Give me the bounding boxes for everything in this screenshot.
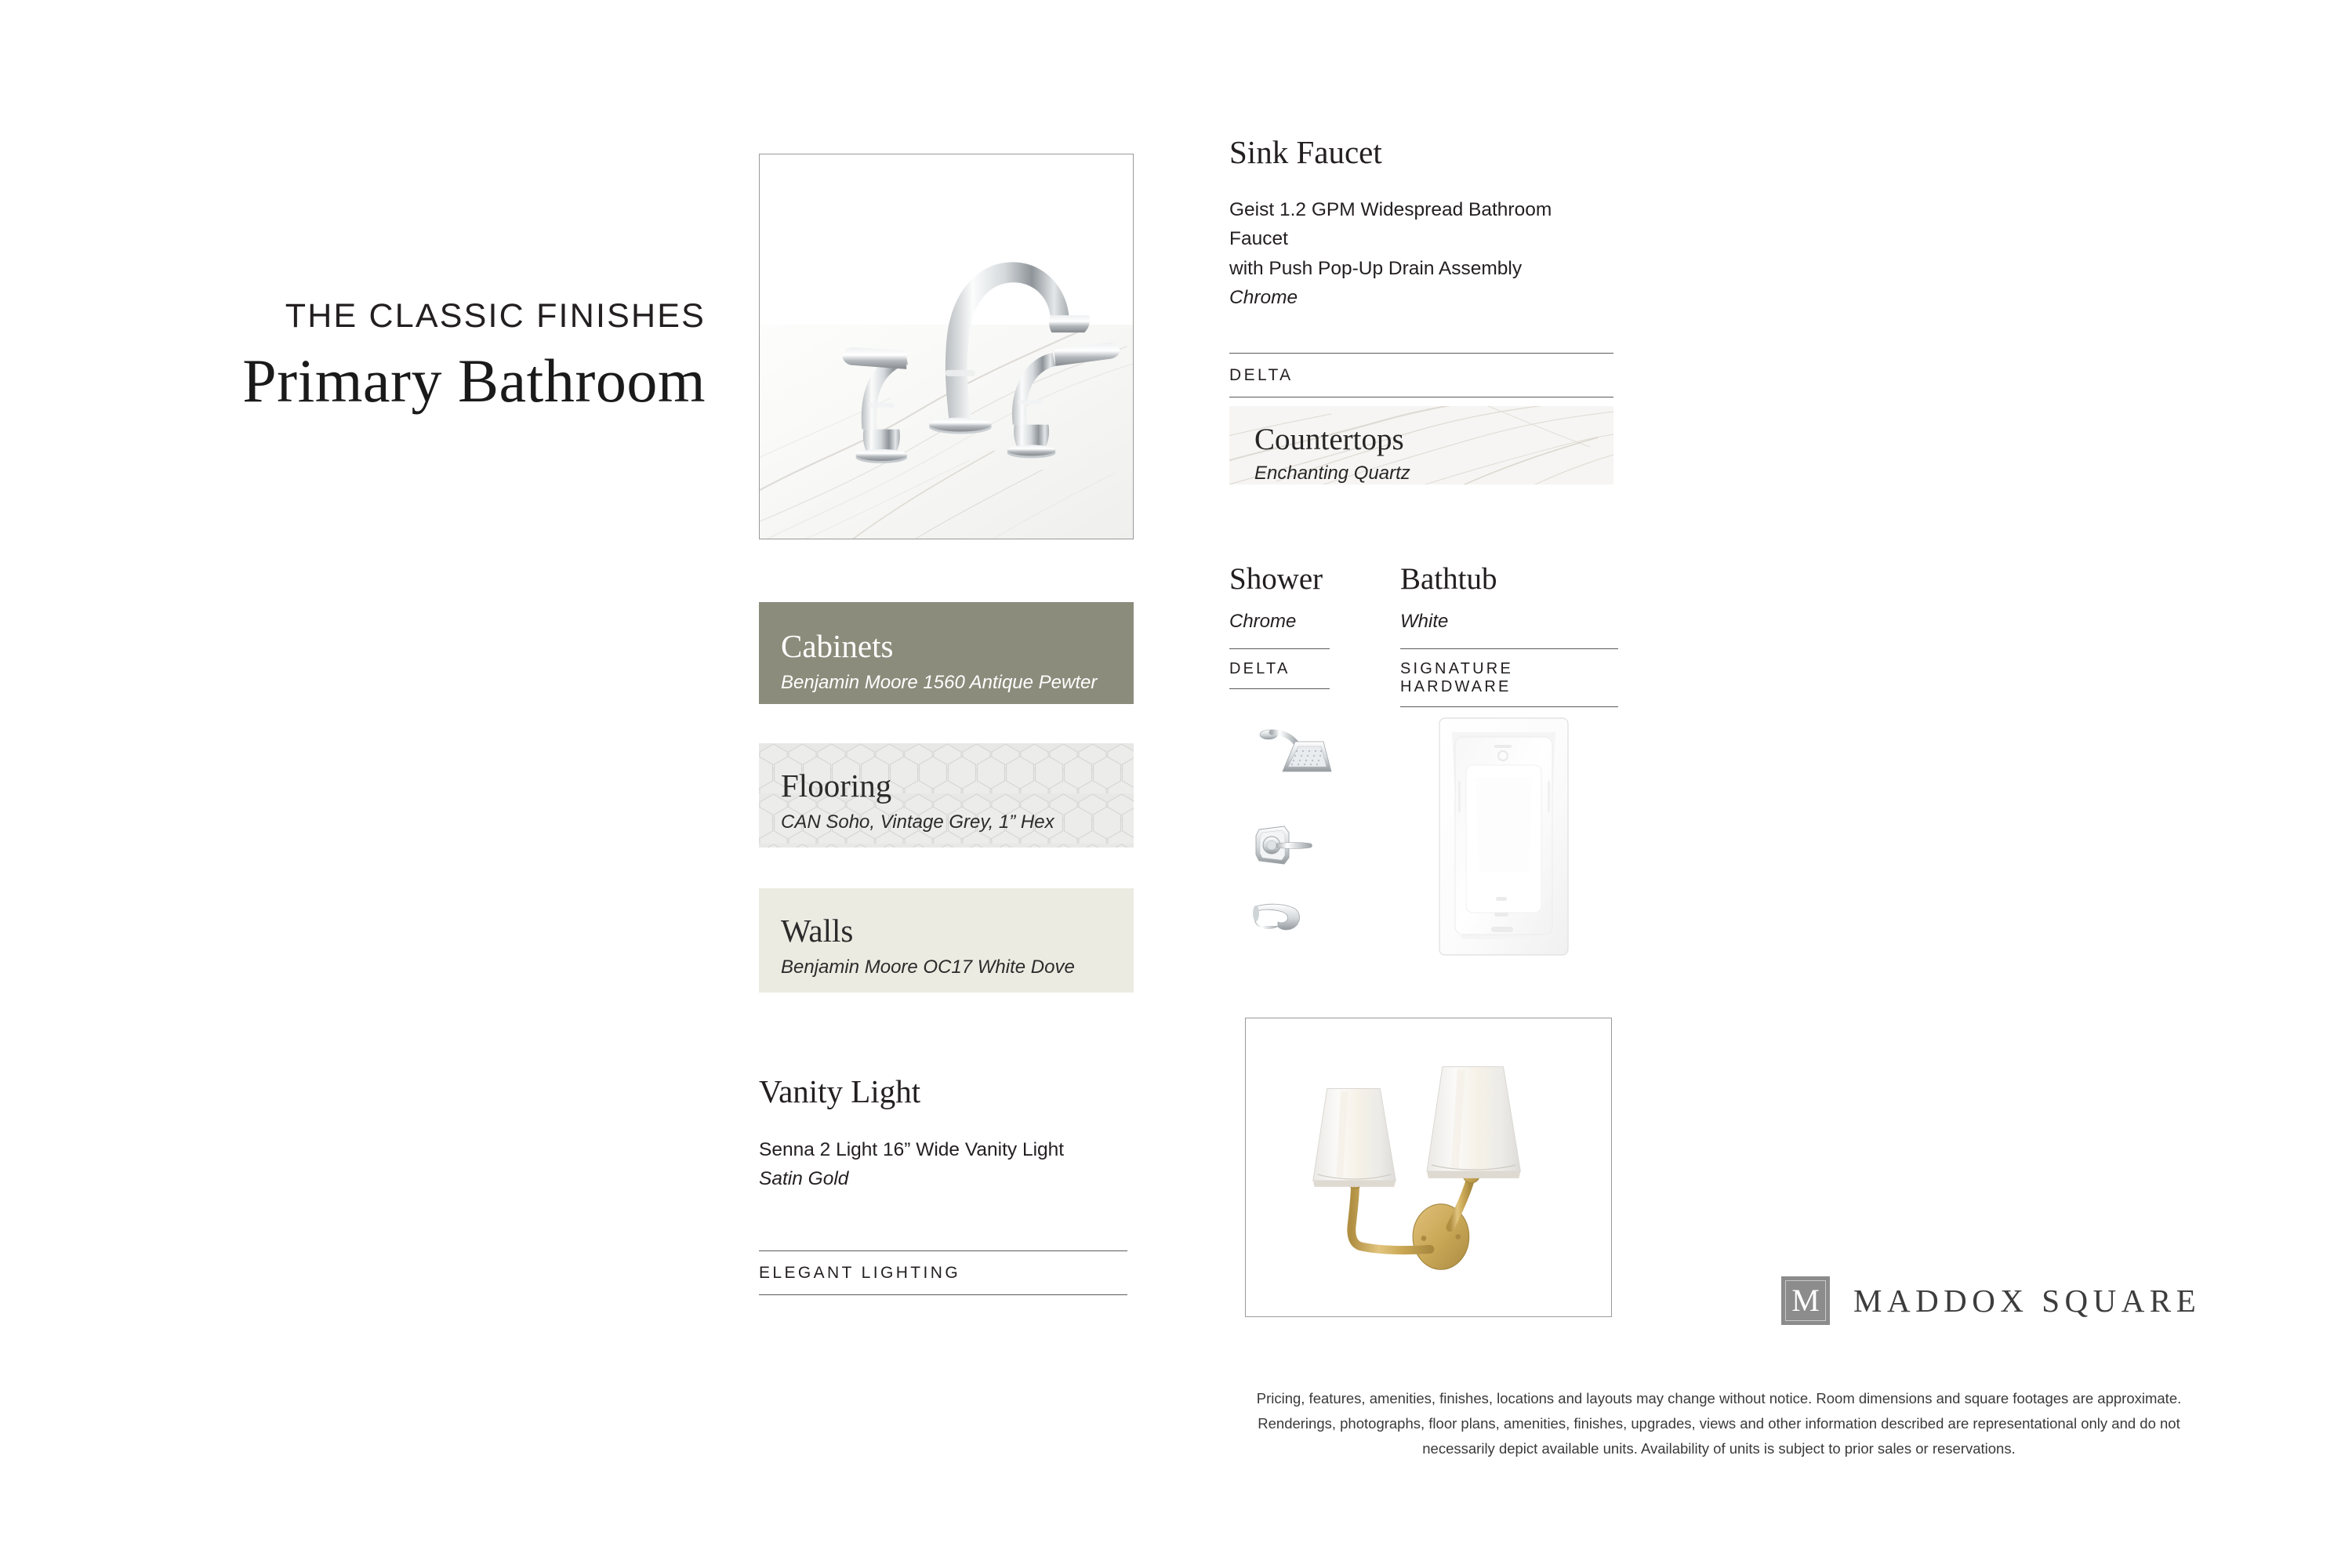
- countertops-swatch: Countertops Enchanting Quartz: [1229, 406, 1613, 485]
- logo-mark-icon: M: [1781, 1276, 1830, 1325]
- bathtub-brand: SIGNATURE HARDWARE: [1400, 649, 1618, 706]
- vanity-light-image: [1245, 1018, 1612, 1317]
- sink-faucet-block: Sink Faucet Geist 1.2 GPM Widespread Bat…: [1229, 135, 1613, 397]
- sink-faucet-brand: DELTA: [1229, 354, 1613, 397]
- flooring-detail: CAN Soho, Vintage Grey, 1” Hex: [781, 810, 1134, 834]
- sink-faucet-brand-box: DELTA: [1229, 353, 1613, 397]
- page-eyebrow: THE CLASSIC FINISHES: [0, 298, 706, 335]
- divider-rule: [1229, 397, 1613, 397]
- logo-wordmark: MADDOX SQUARE: [1853, 1282, 2201, 1319]
- bathtub-block: Bathtub White SIGNATURE HARDWARE: [1400, 563, 1618, 707]
- sink-faucet-spec-line-2: with Push Pop-Up Drain Assembly: [1229, 254, 1613, 283]
- countertops-material: Enchanting Quartz: [1254, 463, 1613, 485]
- sink-faucet-spec-line-1: Geist 1.2 GPM Widespread Bathroom Faucet: [1229, 195, 1613, 253]
- divider-rule: [1229, 688, 1330, 689]
- page-title: Primary Bathroom: [0, 346, 706, 416]
- shower-block: Shower Chrome DELTA: [1229, 563, 1330, 689]
- shower-finish: Chrome: [1229, 611, 1330, 633]
- vanity-light-block: Vanity Light Senna 2 Light 16” Wide Vani…: [759, 1074, 1127, 1295]
- cabinets-swatch: Cabinets Benjamin Moore 1560 Antique Pew…: [759, 602, 1134, 704]
- shower-heading: Shower: [1229, 563, 1330, 597]
- sink-faucet-heading: Sink Faucet: [1229, 135, 1613, 170]
- vanity-light-spec: Senna 2 Light 16” Wide Vanity Light: [759, 1135, 1127, 1164]
- bathtub-image: [1436, 715, 1571, 958]
- countertops-heading: Countertops: [1254, 423, 1613, 457]
- vanity-light-heading: Vanity Light: [759, 1074, 1127, 1109]
- vanity-light-brand-box: ELEGANT LIGHTING: [759, 1250, 1127, 1295]
- sink-faucet-finish: Chrome: [1229, 283, 1613, 312]
- divider-rule: [759, 1294, 1127, 1295]
- vanity-light-brand: ELEGANT LIGHTING: [759, 1251, 1127, 1294]
- cabinets-heading: Cabinets: [781, 629, 1134, 665]
- walls-heading: Walls: [781, 913, 1134, 949]
- disclaimer-text: Pricing, features, amenities, finishes, …: [1223, 1386, 2215, 1461]
- shower-brand: DELTA: [1229, 649, 1330, 688]
- vanity-light-finish: Satin Gold: [759, 1164, 1127, 1193]
- sink-faucet-image: [759, 154, 1134, 539]
- brand-logo: M MADDOX SQUARE: [1781, 1276, 2201, 1325]
- page-title-block: THE CLASSIC FINISHES Primary Bathroom: [0, 298, 706, 416]
- bathtub-brand-box: SIGNATURE HARDWARE: [1400, 648, 1618, 707]
- logo-letter: M: [1791, 1285, 1820, 1316]
- flooring-heading: Flooring: [781, 768, 1134, 804]
- flooring-swatch: Flooring CAN Soho, Vintage Grey, 1” Hex: [759, 743, 1134, 848]
- walls-detail: Benjamin Moore OC17 White Dove: [781, 955, 1134, 979]
- shower-fixtures-image: [1245, 715, 1363, 950]
- cabinets-detail: Benjamin Moore 1560 Antique Pewter: [781, 670, 1134, 695]
- walls-swatch: Walls Benjamin Moore OC17 White Dove: [759, 888, 1134, 993]
- divider-rule: [1400, 706, 1618, 707]
- bathtub-heading: Bathtub: [1400, 563, 1618, 597]
- shower-brand-box: DELTA: [1229, 648, 1330, 689]
- bathtub-finish: White: [1400, 611, 1618, 633]
